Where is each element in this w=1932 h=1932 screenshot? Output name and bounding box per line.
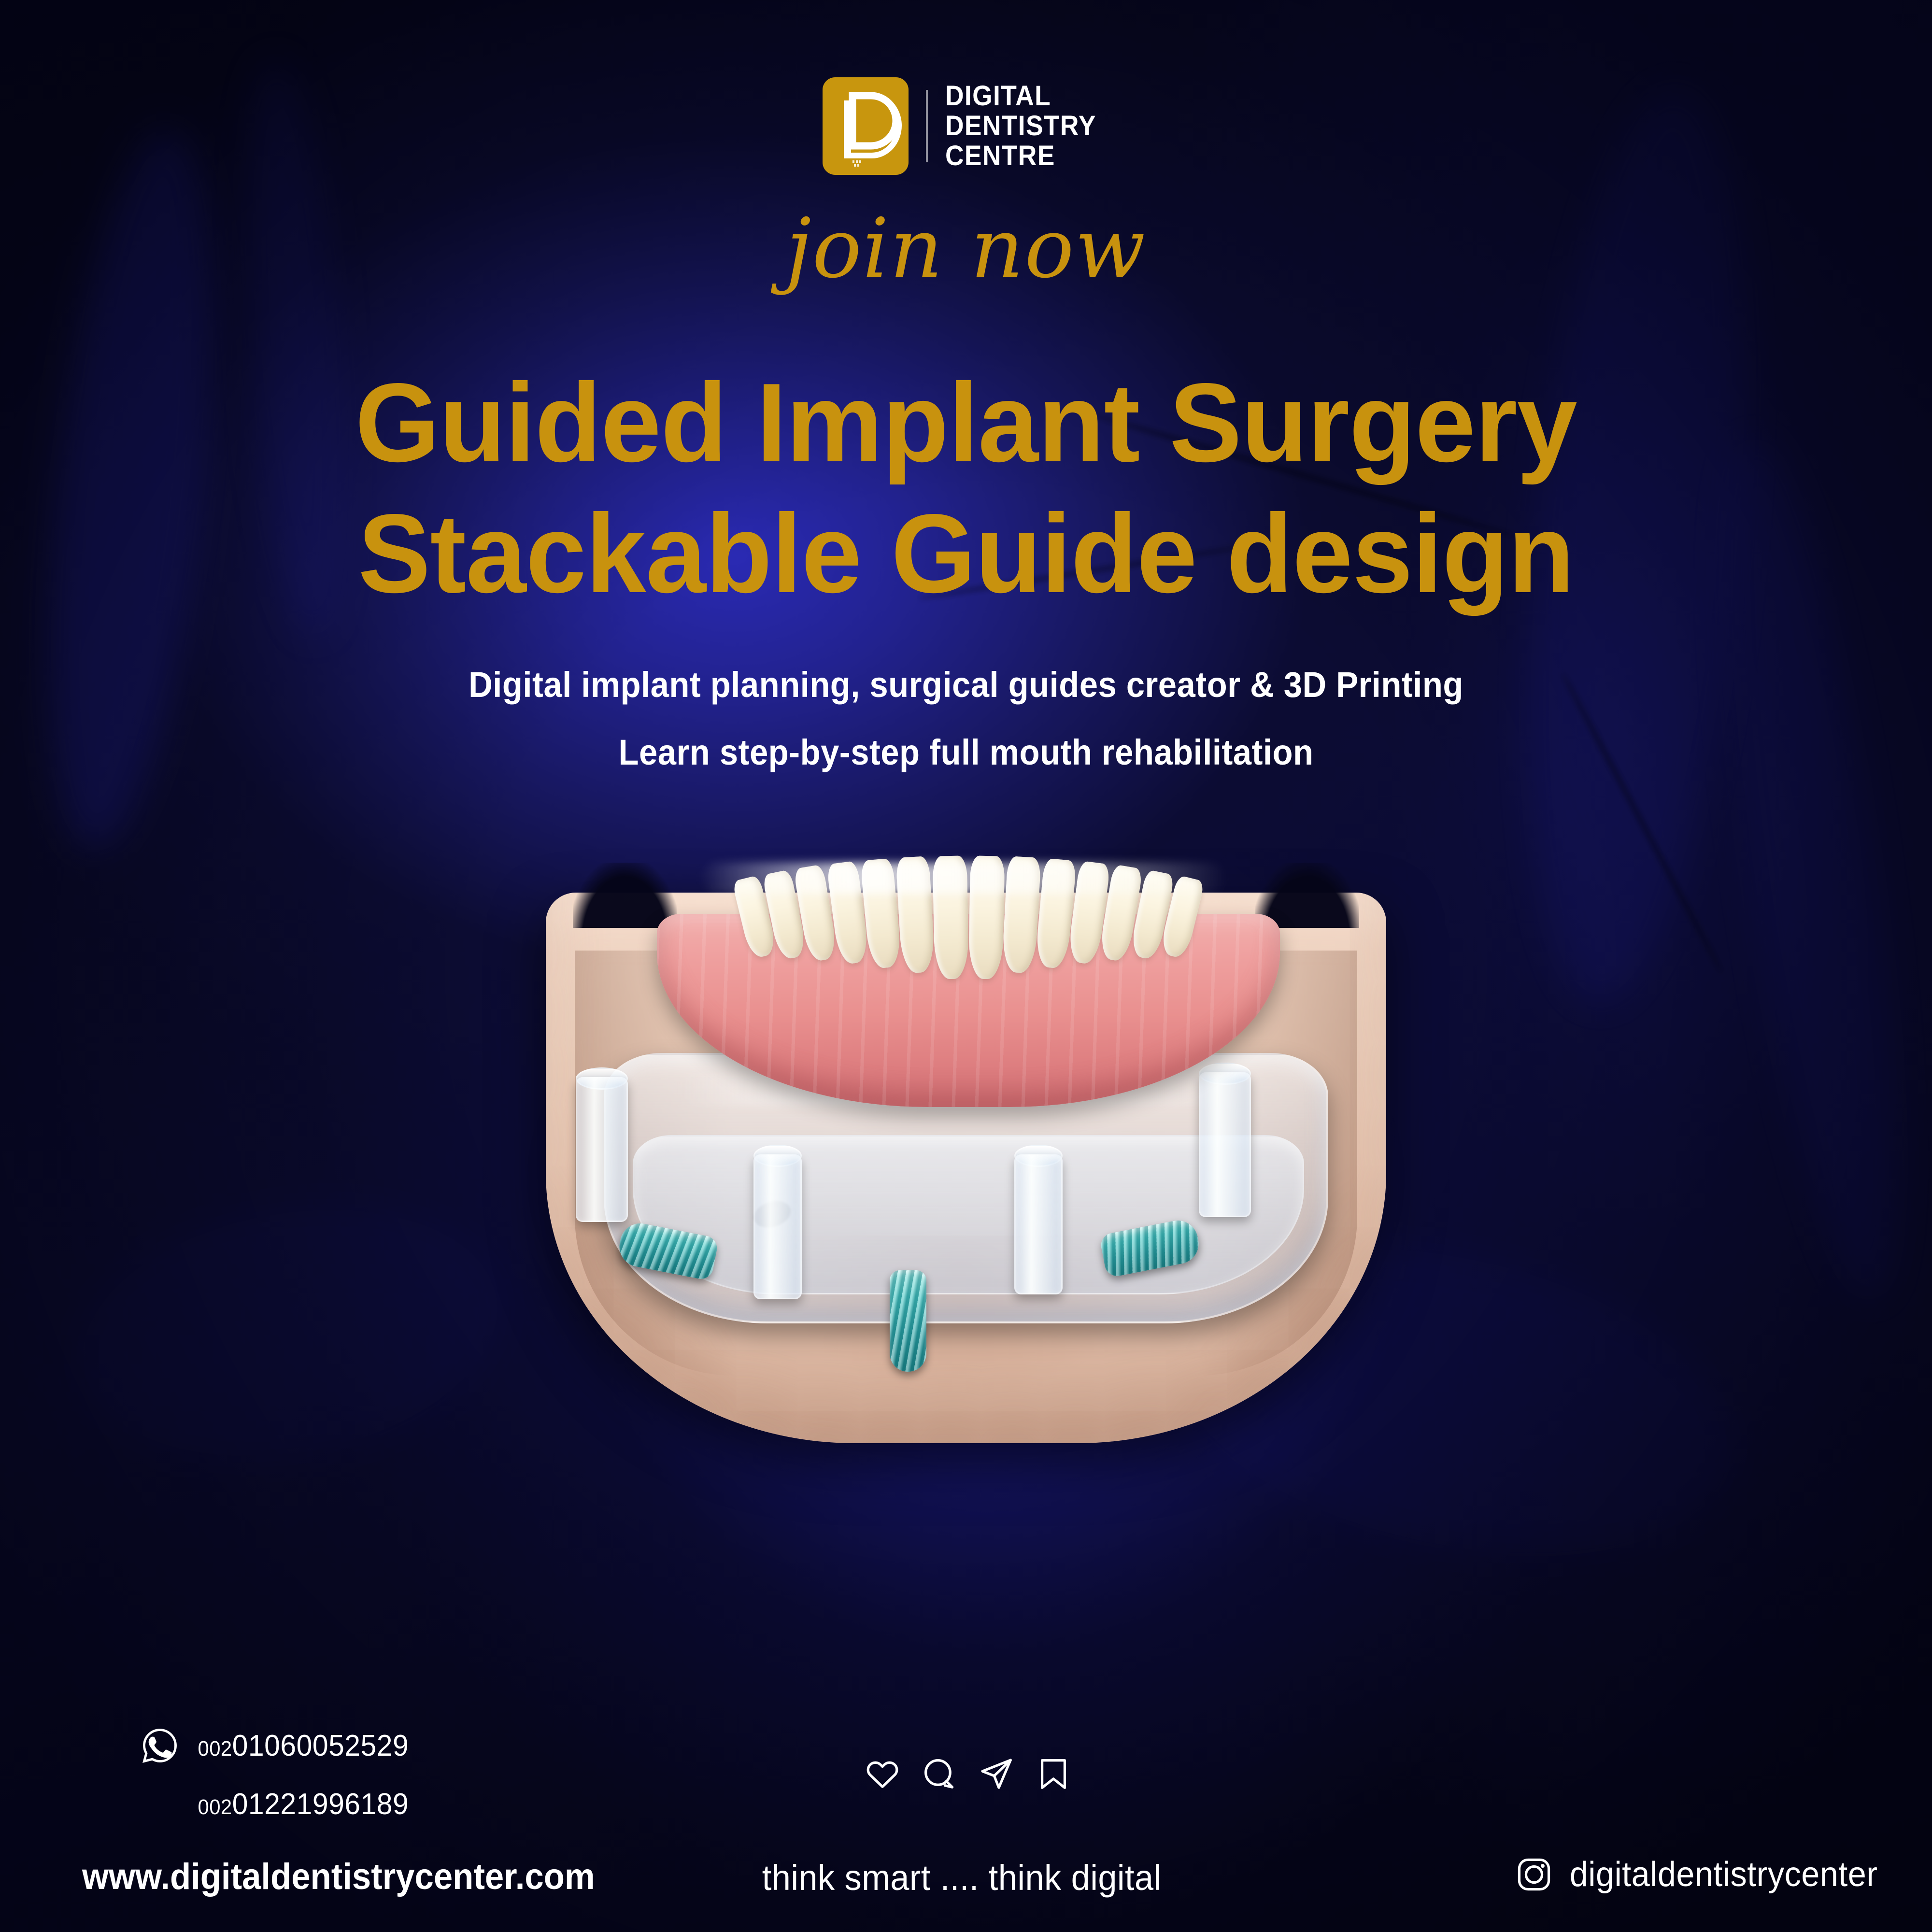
brand-name-line-1: DIGITAL bbox=[945, 82, 1096, 111]
headline-line-2: Stackable Guide design bbox=[29, 488, 1903, 619]
join-now-eyebrow: join now bbox=[0, 208, 1932, 290]
phone-digits-primary: 01060052529 bbox=[232, 1729, 409, 1762]
country-code-secondary: 002 bbox=[198, 1795, 232, 1819]
instagram-action-bar bbox=[865, 1756, 1071, 1792]
guide-sleeve bbox=[753, 1154, 802, 1299]
whatsapp-icon bbox=[141, 1727, 179, 1764]
tagline: think smart .... think digital bbox=[762, 1857, 1162, 1898]
mandibular-implant-model bbox=[512, 865, 1420, 1483]
phone-digits-secondary: 01221996189 bbox=[232, 1788, 409, 1821]
whatsapp-contact-secondary[interactable]: 00201221996189 bbox=[198, 1787, 409, 1821]
instagram-handle-text: digitaldentistrycenter bbox=[1569, 1855, 1877, 1894]
teeth-gloss bbox=[700, 863, 1227, 894]
brand-name-line-3: CENTRE bbox=[945, 142, 1096, 170]
phone-number-primary: 00201060052529 bbox=[198, 1729, 409, 1763]
guide-sleeve bbox=[576, 1077, 628, 1222]
instagram-handle[interactable]: digitaldentistrycenter bbox=[1515, 1855, 1886, 1894]
brand-name-line-2: DENTISTRY bbox=[945, 112, 1096, 141]
bookmark-icon[interactable] bbox=[1036, 1756, 1071, 1792]
like-icon[interactable] bbox=[865, 1756, 900, 1792]
guide-sleeve bbox=[1014, 1154, 1063, 1294]
dd-monogram-icon bbox=[823, 77, 909, 175]
subtitle-1: Digital implant planning, surgical guide… bbox=[68, 664, 1864, 705]
promo-poster: DIGITAL DENTISTRY CENTRE join now Guided… bbox=[0, 0, 1932, 1932]
country-code-primary: 002 bbox=[198, 1737, 232, 1761]
brand-logo: DIGITAL DENTISTRY CENTRE bbox=[0, 77, 1932, 175]
share-icon[interactable] bbox=[979, 1756, 1014, 1792]
logo-divider bbox=[926, 90, 928, 162]
comment-icon[interactable] bbox=[922, 1756, 957, 1792]
full-arch-prosthesis bbox=[657, 856, 1280, 1107]
instagram-icon bbox=[1515, 1856, 1553, 1893]
headline-line-1: Guided Implant Surgery bbox=[29, 357, 1903, 488]
anchor-pin bbox=[890, 1270, 926, 1372]
subtitle-2: Learn step-by-step full mouth rehabilita… bbox=[68, 732, 1864, 773]
brand-name: DIGITAL DENTISTRY CENTRE bbox=[945, 82, 1109, 170]
website-url[interactable]: www.digitaldentistrycenter.com bbox=[82, 1856, 595, 1898]
page-title: Guided Implant Surgery Stackable Guide d… bbox=[0, 357, 1932, 620]
whatsapp-contact-primary[interactable]: 00201060052529 bbox=[141, 1727, 414, 1764]
